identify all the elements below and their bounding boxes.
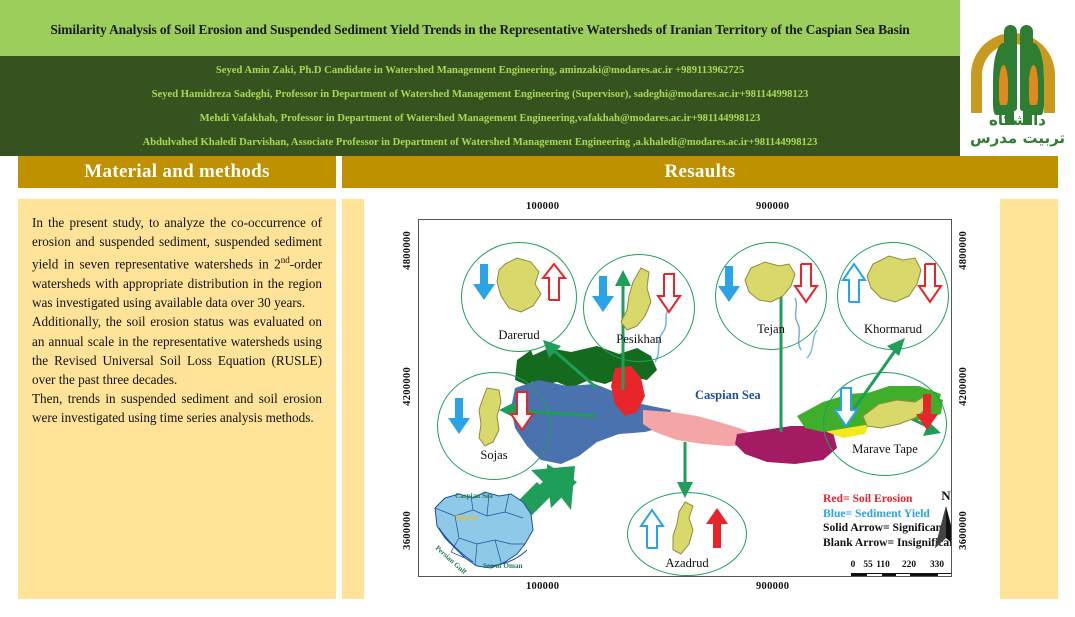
sojas-erosion-arrow-blank-down-red bbox=[511, 392, 533, 430]
bubble-label-maravetape: Marave Tape bbox=[817, 442, 952, 457]
bubble-label-tejan: Tejan bbox=[715, 322, 827, 337]
authors-band: Seyed Amin Zaki, Ph.D Candidate in Water… bbox=[0, 56, 960, 156]
bubble-label-darerud: Darerud bbox=[461, 328, 577, 343]
methods-p1-part-a: In the present study, to analyze the co-… bbox=[32, 215, 322, 272]
azadrud-sediment-arrow-blank-up-blue bbox=[641, 510, 663, 548]
sojas-shape bbox=[479, 388, 501, 446]
map-xtick-bottom-100000: 100000 bbox=[526, 581, 559, 592]
tejan-shape bbox=[745, 262, 795, 302]
map-xtick-top-100000: 100000 bbox=[526, 201, 559, 212]
section-header-methods: Material and methods bbox=[18, 156, 336, 188]
scalebar-label-110: 110 bbox=[876, 560, 890, 570]
iran-inset-map: Caspian Sea Tehran Persian Gulf Sea of O… bbox=[425, 482, 543, 574]
map-ytick-left-4800000: 4800000 bbox=[402, 231, 413, 270]
logo-core-right-icon bbox=[1029, 65, 1038, 105]
methods-paragraph-1: In the present study, to analyze the co-… bbox=[32, 213, 322, 312]
logo-core-left-icon bbox=[999, 65, 1008, 105]
scalebar-seg-2 bbox=[882, 574, 896, 577]
poster-root: Similarity Analysis of Soil Erosion and … bbox=[0, 0, 1075, 617]
map-ytick-left-3600000: 3600000 bbox=[402, 511, 413, 550]
results-map-figure: 100000 900000 100000 900000 4800000 4200… bbox=[366, 199, 1000, 599]
scalebar-label-0: 0 bbox=[851, 560, 856, 570]
author-line-3: Mehdi Vafakhah, Professor in Department … bbox=[200, 107, 761, 130]
inset-label-caspian-sea: Caspian Sea bbox=[455, 492, 493, 500]
tejan-erosion-arrow-blank-down-red bbox=[795, 264, 817, 302]
sojas-content bbox=[437, 372, 551, 480]
author-line-1: Seyed Amin Zaki, Ph.D Candidate in Water… bbox=[216, 59, 744, 82]
darerud-sediment-arrow-solid-down-blue bbox=[473, 264, 495, 300]
darerud-shape bbox=[497, 258, 541, 312]
darerud-erosion-arrow-blank-up-red bbox=[543, 264, 565, 300]
methods-body: In the present study, to analyze the co-… bbox=[32, 213, 322, 428]
pesikhan-sediment-arrow-solid-down-blue bbox=[592, 276, 614, 312]
map-xtick-top-900000: 900000 bbox=[756, 201, 789, 212]
scalebar-bar bbox=[851, 573, 952, 577]
azadrud-shape bbox=[673, 502, 693, 554]
caspian-sea-label: Caspian Sea bbox=[695, 388, 761, 403]
map-ytick-right-3600000: 3600000 bbox=[958, 511, 969, 550]
tejan-sediment-arrow-solid-down-blue bbox=[718, 266, 740, 302]
methods-heading-label: Material and methods bbox=[84, 161, 269, 183]
map-ytick-right-4200000: 4200000 bbox=[958, 367, 969, 406]
results-heading-label: Resaults bbox=[664, 161, 735, 183]
inset-label-tehran: Tehran bbox=[455, 514, 477, 522]
maravetape-sediment-arrow-blank-down-blue bbox=[835, 388, 857, 426]
logo-persian-text: دانشگاه تربیت مدرس bbox=[966, 111, 1070, 147]
methods-panel: In the present study, to analyze the co-… bbox=[18, 199, 336, 599]
map-canvas: Caspian Sea Darerud bbox=[418, 219, 952, 577]
university-logo: دانشگاه تربیت مدرس bbox=[960, 0, 1075, 156]
scalebar-label-55: 55 bbox=[863, 560, 872, 570]
results-left-accent-strip bbox=[342, 199, 364, 599]
north-arrow-icon bbox=[931, 504, 952, 550]
pesikhan-erosion-arrow-blank-down-red bbox=[658, 274, 680, 312]
sojas-sediment-arrow-solid-down-blue bbox=[448, 398, 470, 434]
north-arrow-label: N bbox=[931, 488, 952, 504]
bubble-label-khormarud: Khormarud bbox=[833, 322, 952, 337]
khormarud-shape bbox=[867, 256, 921, 302]
scalebar-seg-3 bbox=[910, 574, 938, 577]
methods-paragraph-3: Then, trends in suspended sediment and s… bbox=[32, 389, 322, 427]
azadrud-erosion-arrow-solid-up-red bbox=[706, 508, 728, 548]
methods-p1-superscript: nd bbox=[281, 255, 290, 265]
poster-title-band: Similarity Analysis of Soil Erosion and … bbox=[0, 0, 960, 56]
section-header-results: Resaults bbox=[342, 156, 1058, 188]
maravetape-content bbox=[823, 372, 947, 476]
scalebar-seg-1 bbox=[852, 574, 867, 577]
page-title: Similarity Analysis of Soil Erosion and … bbox=[50, 17, 909, 42]
map-ytick-left-4200000: 4200000 bbox=[402, 367, 413, 406]
author-line-2: Seyed Hamidreza Sadeghi, Professor in De… bbox=[152, 83, 809, 106]
pesikhan-shape bbox=[621, 268, 651, 330]
map-xtick-bottom-900000: 900000 bbox=[756, 581, 789, 592]
bubble-label-azadrud: Azadrud bbox=[627, 556, 747, 571]
map-scalebar: 0 55 110 220 330 440 Km bbox=[851, 560, 952, 577]
scalebar-label-220: 220 bbox=[902, 560, 916, 570]
author-line-4: Abdulvahed Khaledi Darvishan, Associate … bbox=[143, 131, 818, 154]
khormarud-erosion-arrow-blank-down-red bbox=[919, 264, 941, 302]
maravetape-shape bbox=[863, 396, 927, 428]
bubble-label-sojas: Sojas bbox=[437, 448, 551, 463]
results-right-accent-strip bbox=[1000, 199, 1058, 599]
methods-paragraph-2: Additionally, the soil erosion status wa… bbox=[32, 312, 322, 389]
map-ytick-right-4800000: 4800000 bbox=[958, 231, 969, 270]
north-arrow: N bbox=[931, 488, 952, 555]
khormarud-sediment-arrow-blank-up-red bbox=[843, 264, 865, 302]
scalebar-label-330: 330 bbox=[930, 560, 944, 570]
inset-label-sea-of-oman: Sea of Oman bbox=[483, 562, 523, 570]
scalebar-numbers: 0 55 110 220 330 440 bbox=[851, 560, 952, 573]
bubble-label-pesikhan: Pesikhan bbox=[583, 332, 695, 347]
